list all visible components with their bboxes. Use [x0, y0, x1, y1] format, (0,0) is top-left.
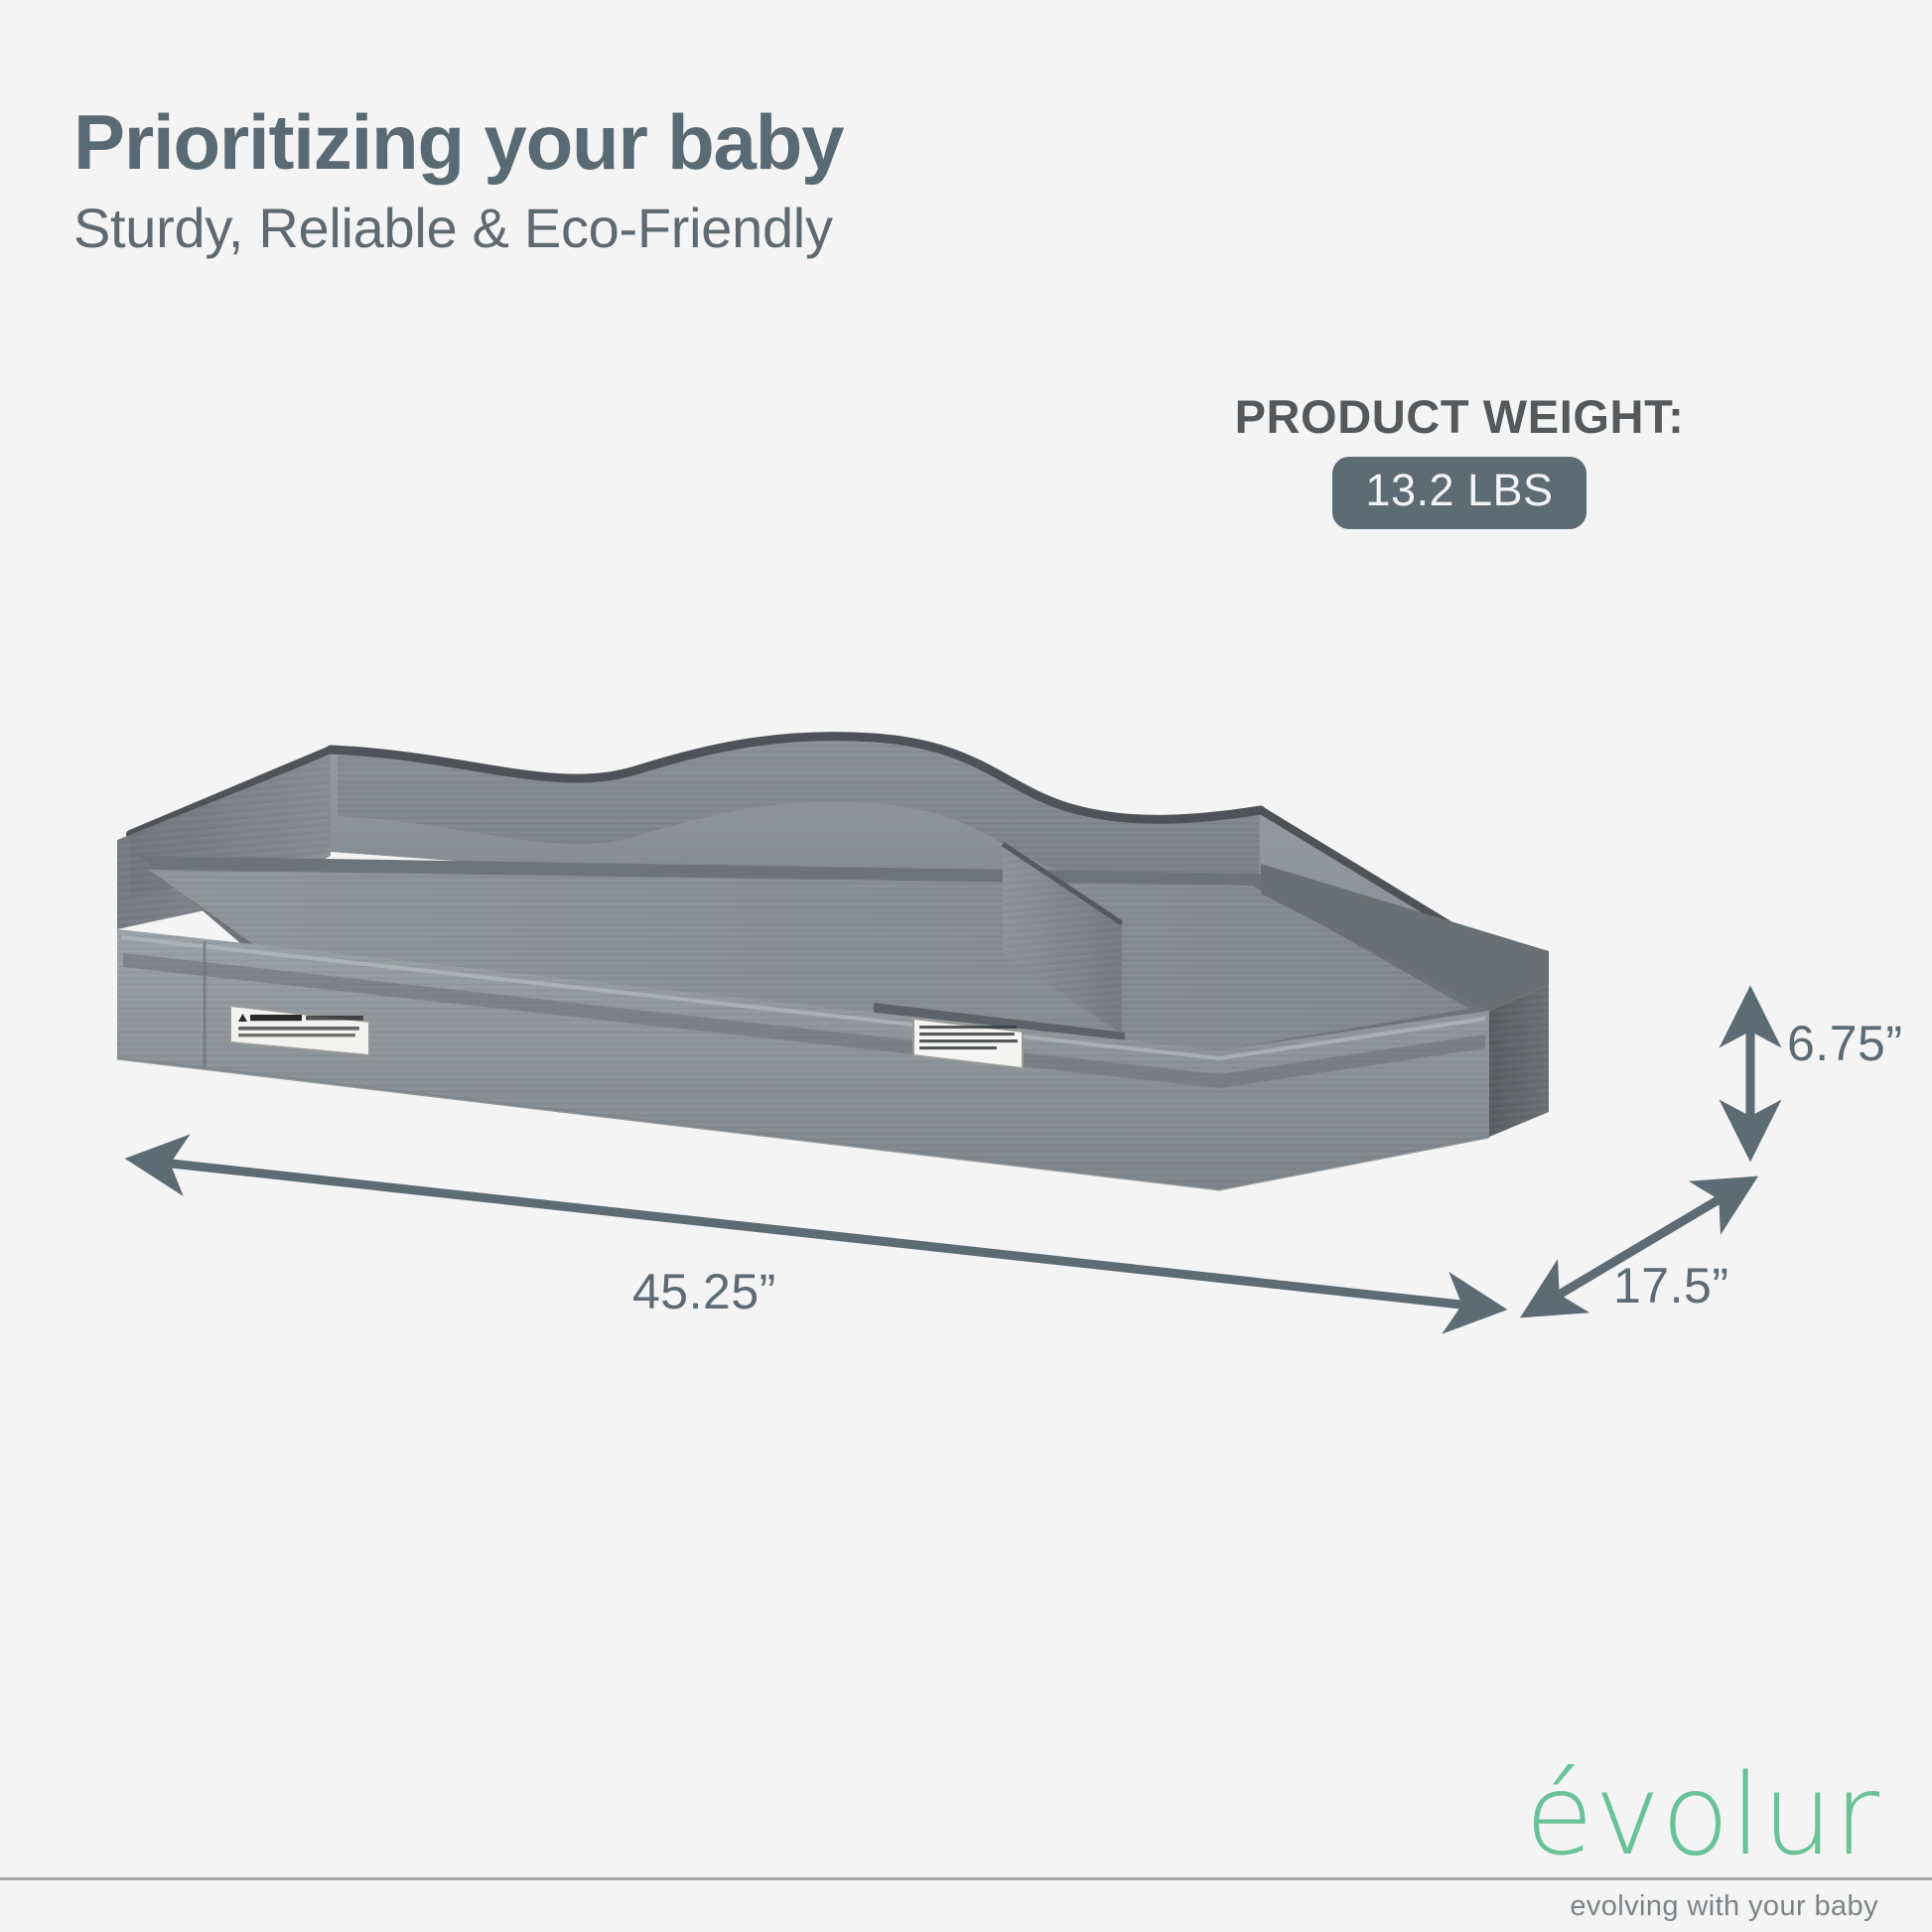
header-block: Prioritizing your baby Sturdy, Reliable … [73, 103, 1166, 261]
product-illustration [0, 0, 1932, 1932]
right-end-panel [1261, 809, 1489, 1028]
page-title: Prioritizing your baby [73, 103, 1166, 183]
brand-logo: évolur evolving with your baby [1469, 1763, 1886, 1923]
dimension-label-depth: 17.5” [1613, 1257, 1728, 1314]
infographic-page: Prioritizing your baby Sturdy, Reliable … [0, 0, 1932, 1932]
page-subtitle: Sturdy, Reliable & Eco-Friendly [73, 195, 1166, 261]
back-rail [331, 736, 1385, 928]
fall-hazard-warning-label [230, 1006, 369, 1055]
brand-tagline: evolving with your baby [1469, 1890, 1886, 1923]
changing-tray-drawing [0, 0, 1932, 1932]
tray-divider [874, 844, 1125, 1052]
right-end-cap [1261, 864, 1549, 1137]
product-weight-block: PRODUCT WEIGHT: 13.2 LBS [1172, 393, 1747, 529]
left-end-panel [117, 750, 331, 929]
dimension-label-width: 45.25” [632, 1263, 776, 1320]
brand-logo-wordmark: évolur [1469, 1763, 1886, 1868]
product-weight-label: PRODUCT WEIGHT: [1172, 393, 1747, 440]
front-rail [117, 929, 1489, 1189]
product-weight-badge: 13.2 LBS [1332, 457, 1586, 529]
dimension-label-height: 6.75” [1787, 1015, 1902, 1072]
dimension-arrow-width [135, 1160, 1497, 1309]
tray-floor [139, 856, 1489, 1060]
secure-unit-instruction-label [913, 1019, 1023, 1068]
